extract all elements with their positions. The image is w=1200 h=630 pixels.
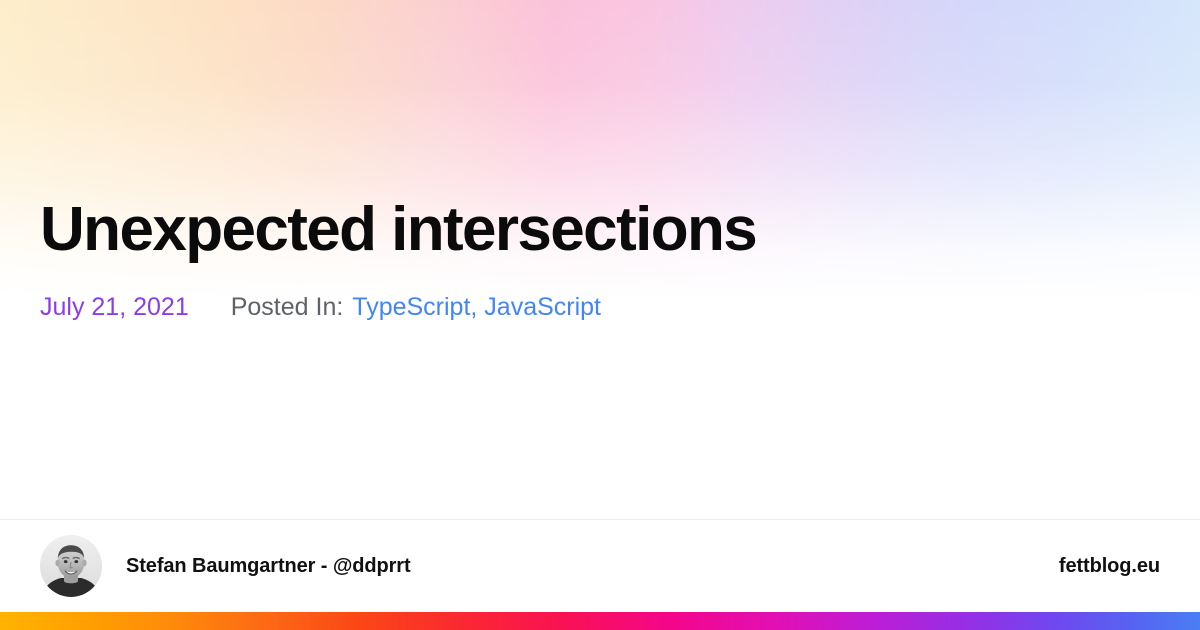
social-share-card: Unexpected intersections July 21, 2021 P… [0,0,1200,630]
site-name: fettblog.eu [1059,555,1160,578]
article-meta: July 21, 2021 Posted In: TypeScript, Jav… [40,292,1160,322]
author-name: Stefan Baumgartner - @ddprrt [126,555,411,578]
card-footer: Stefan Baumgartner - @ddprrt fettblog.eu [0,520,1200,612]
page-title: Unexpected intersections [40,197,1160,263]
author-block: Stefan Baumgartner - @ddprrt [40,535,411,597]
rainbow-accent-bar [0,612,1200,630]
publish-date: July 21, 2021 [40,292,189,322]
posted-in-label: Posted In: [231,292,344,322]
avatar [40,535,102,597]
article-header: Unexpected intersections July 21, 2021 P… [0,0,1200,519]
category-tags-link[interactable]: TypeScript, JavaScript [352,292,601,322]
